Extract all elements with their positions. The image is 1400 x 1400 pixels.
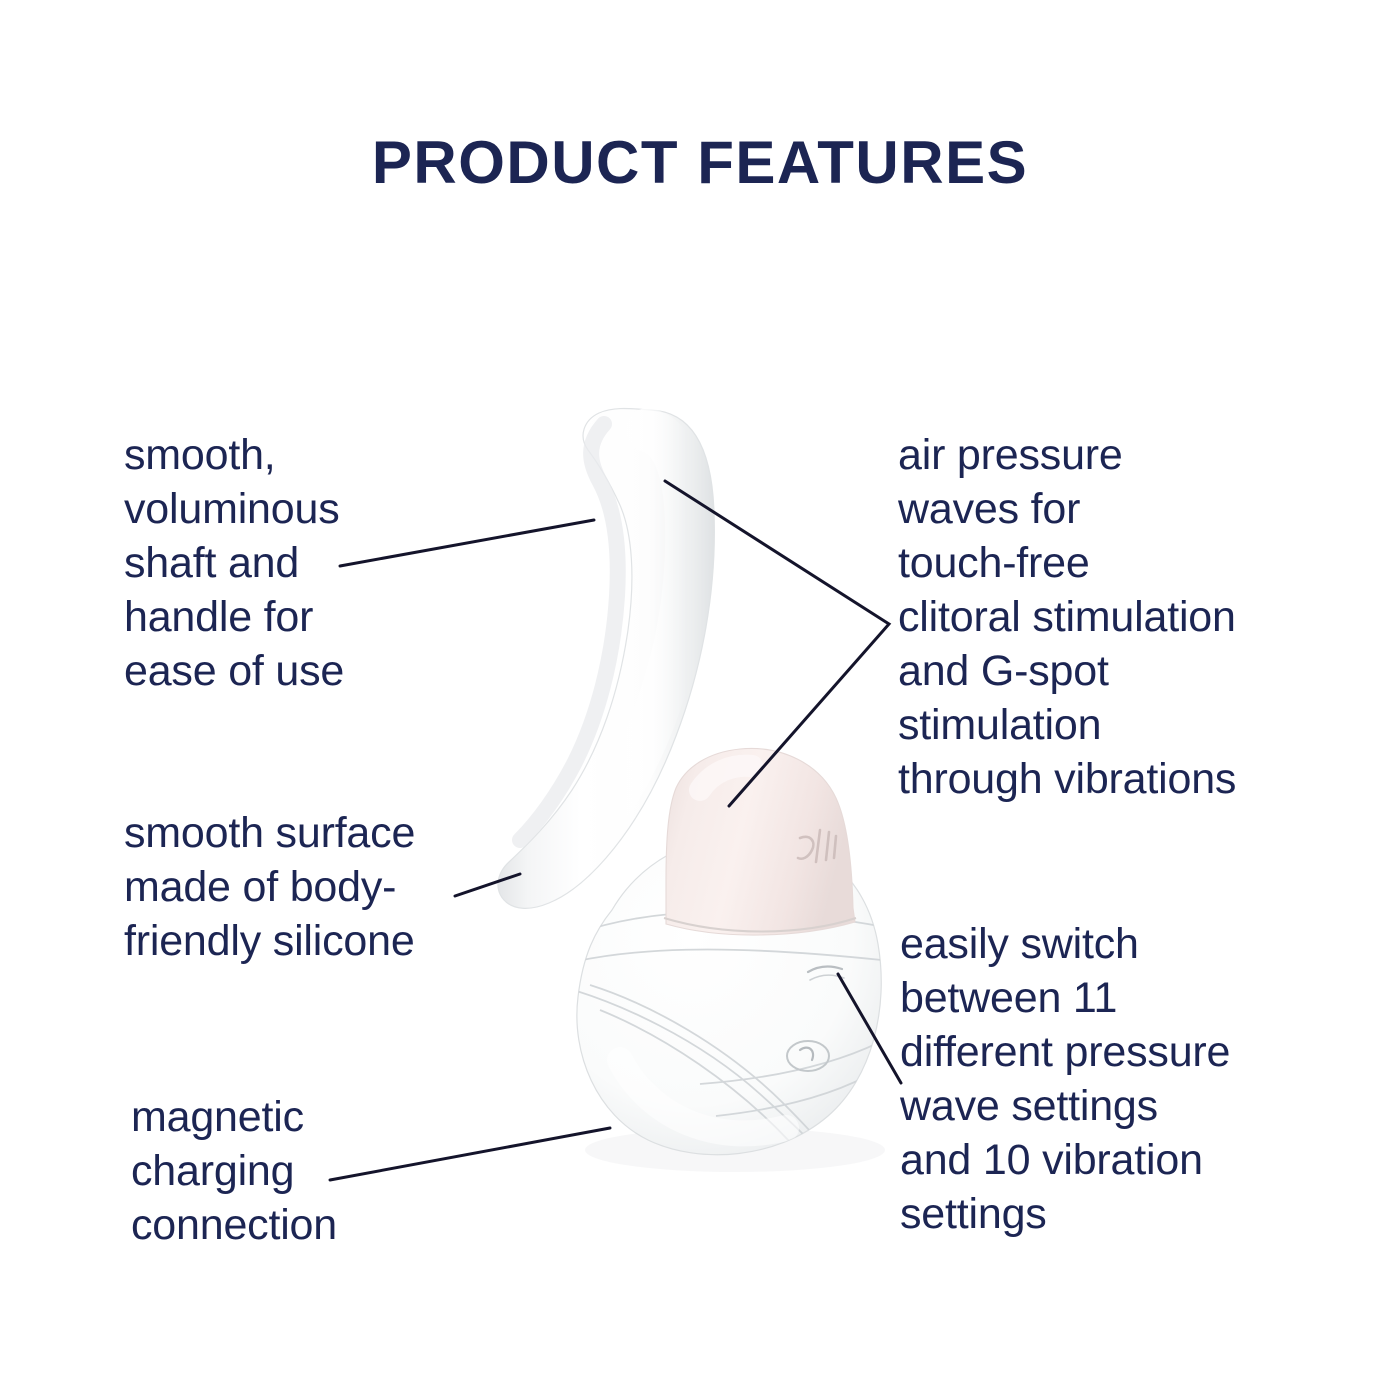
callout-line: different pressure [900, 1025, 1230, 1079]
callout-line: easily switch [900, 917, 1230, 971]
callout-line: touch-free [898, 536, 1236, 590]
callout-magnetic-charging-connection: magnetic charging connection [131, 1090, 337, 1252]
callout-line: settings [900, 1187, 1230, 1241]
callout-smooth-surface-silicone: smooth surface made of body- friendly si… [124, 806, 415, 968]
callout-line: magnetic [131, 1090, 337, 1144]
product-head-pink [664, 748, 856, 935]
callout-line: voluminous [124, 482, 344, 536]
callout-line: handle for [124, 590, 344, 644]
callout-line: clitoral stimulation [898, 590, 1236, 644]
callout-line: wave settings [900, 1079, 1230, 1133]
callout-line: and 10 vibration [900, 1133, 1230, 1187]
callout-line: made of body- [124, 860, 415, 914]
callout-line: stimulation [898, 698, 1236, 752]
callout-line: and G-spot [898, 644, 1236, 698]
callout-line: charging [131, 1144, 337, 1198]
callout-line: waves for [898, 482, 1236, 536]
callout-line: smooth surface [124, 806, 415, 860]
callout-line: ease of use [124, 644, 344, 698]
product-features-infographic: PRODUCT FEATURES [0, 0, 1400, 1400]
callout-pressure-and-vibration-settings: easily switch between 11 different press… [900, 917, 1230, 1241]
callout-line: smooth, [124, 428, 344, 482]
callout-line: through vibrations [898, 752, 1236, 806]
callout-line: connection [131, 1198, 337, 1252]
callout-smooth-voluminous-shaft: smooth, voluminous shaft and handle for … [124, 428, 344, 698]
callout-line: shaft and [124, 536, 344, 590]
callout-line: friendly silicone [124, 914, 415, 968]
callout-line: air pressure [898, 428, 1236, 482]
callout-line: between 11 [900, 971, 1230, 1025]
callout-air-pressure-waves: air pressure waves for touch-free clitor… [898, 428, 1236, 806]
